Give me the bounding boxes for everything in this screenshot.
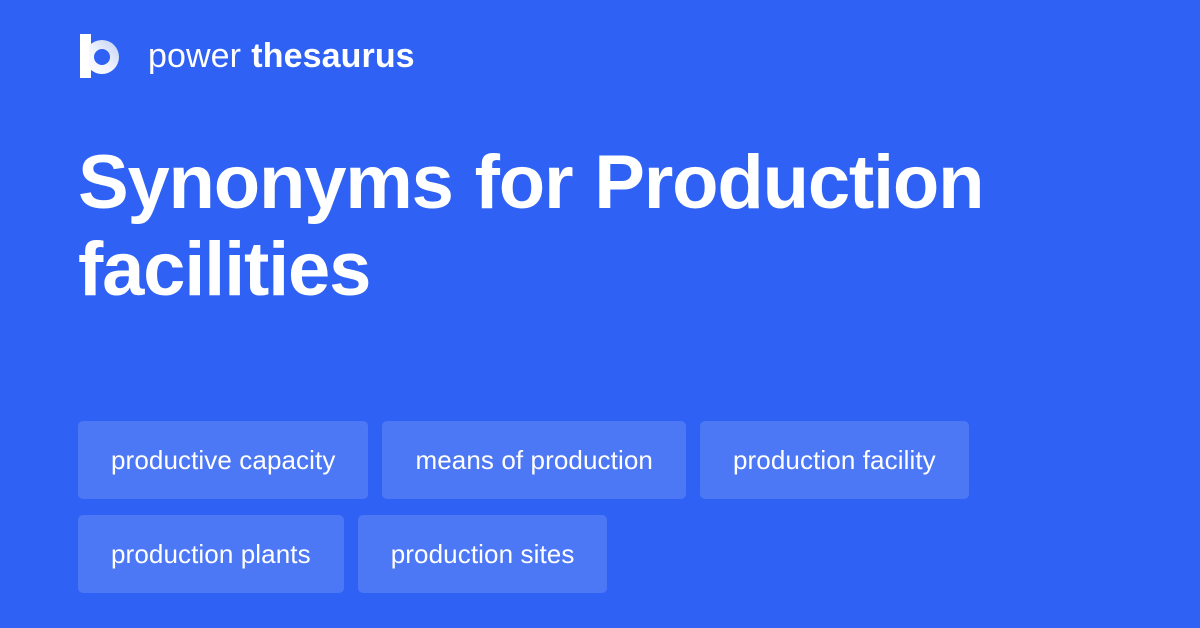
synonym-chip[interactable]: production facility — [700, 421, 969, 499]
synonym-chip-list: productive capacity means of production … — [78, 421, 1122, 593]
synonym-chip[interactable]: means of production — [382, 421, 686, 499]
brand-wordmark: power thesaurus — [148, 39, 415, 73]
brand-word-thesaurus: thesaurus — [251, 39, 414, 73]
brand-lockup[interactable]: power thesaurus — [78, 28, 415, 84]
brand-word-power: power — [148, 39, 241, 73]
synonym-chip[interactable]: productive capacity — [78, 421, 368, 499]
synonym-chip[interactable]: production sites — [358, 515, 608, 593]
social-share-card: power thesaurus Synonyms for Production … — [0, 0, 1200, 628]
page-title: Synonyms for Production facilities — [78, 139, 1088, 314]
power-thesaurus-b-logo-icon — [78, 32, 126, 80]
synonym-chip[interactable]: production plants — [78, 515, 344, 593]
